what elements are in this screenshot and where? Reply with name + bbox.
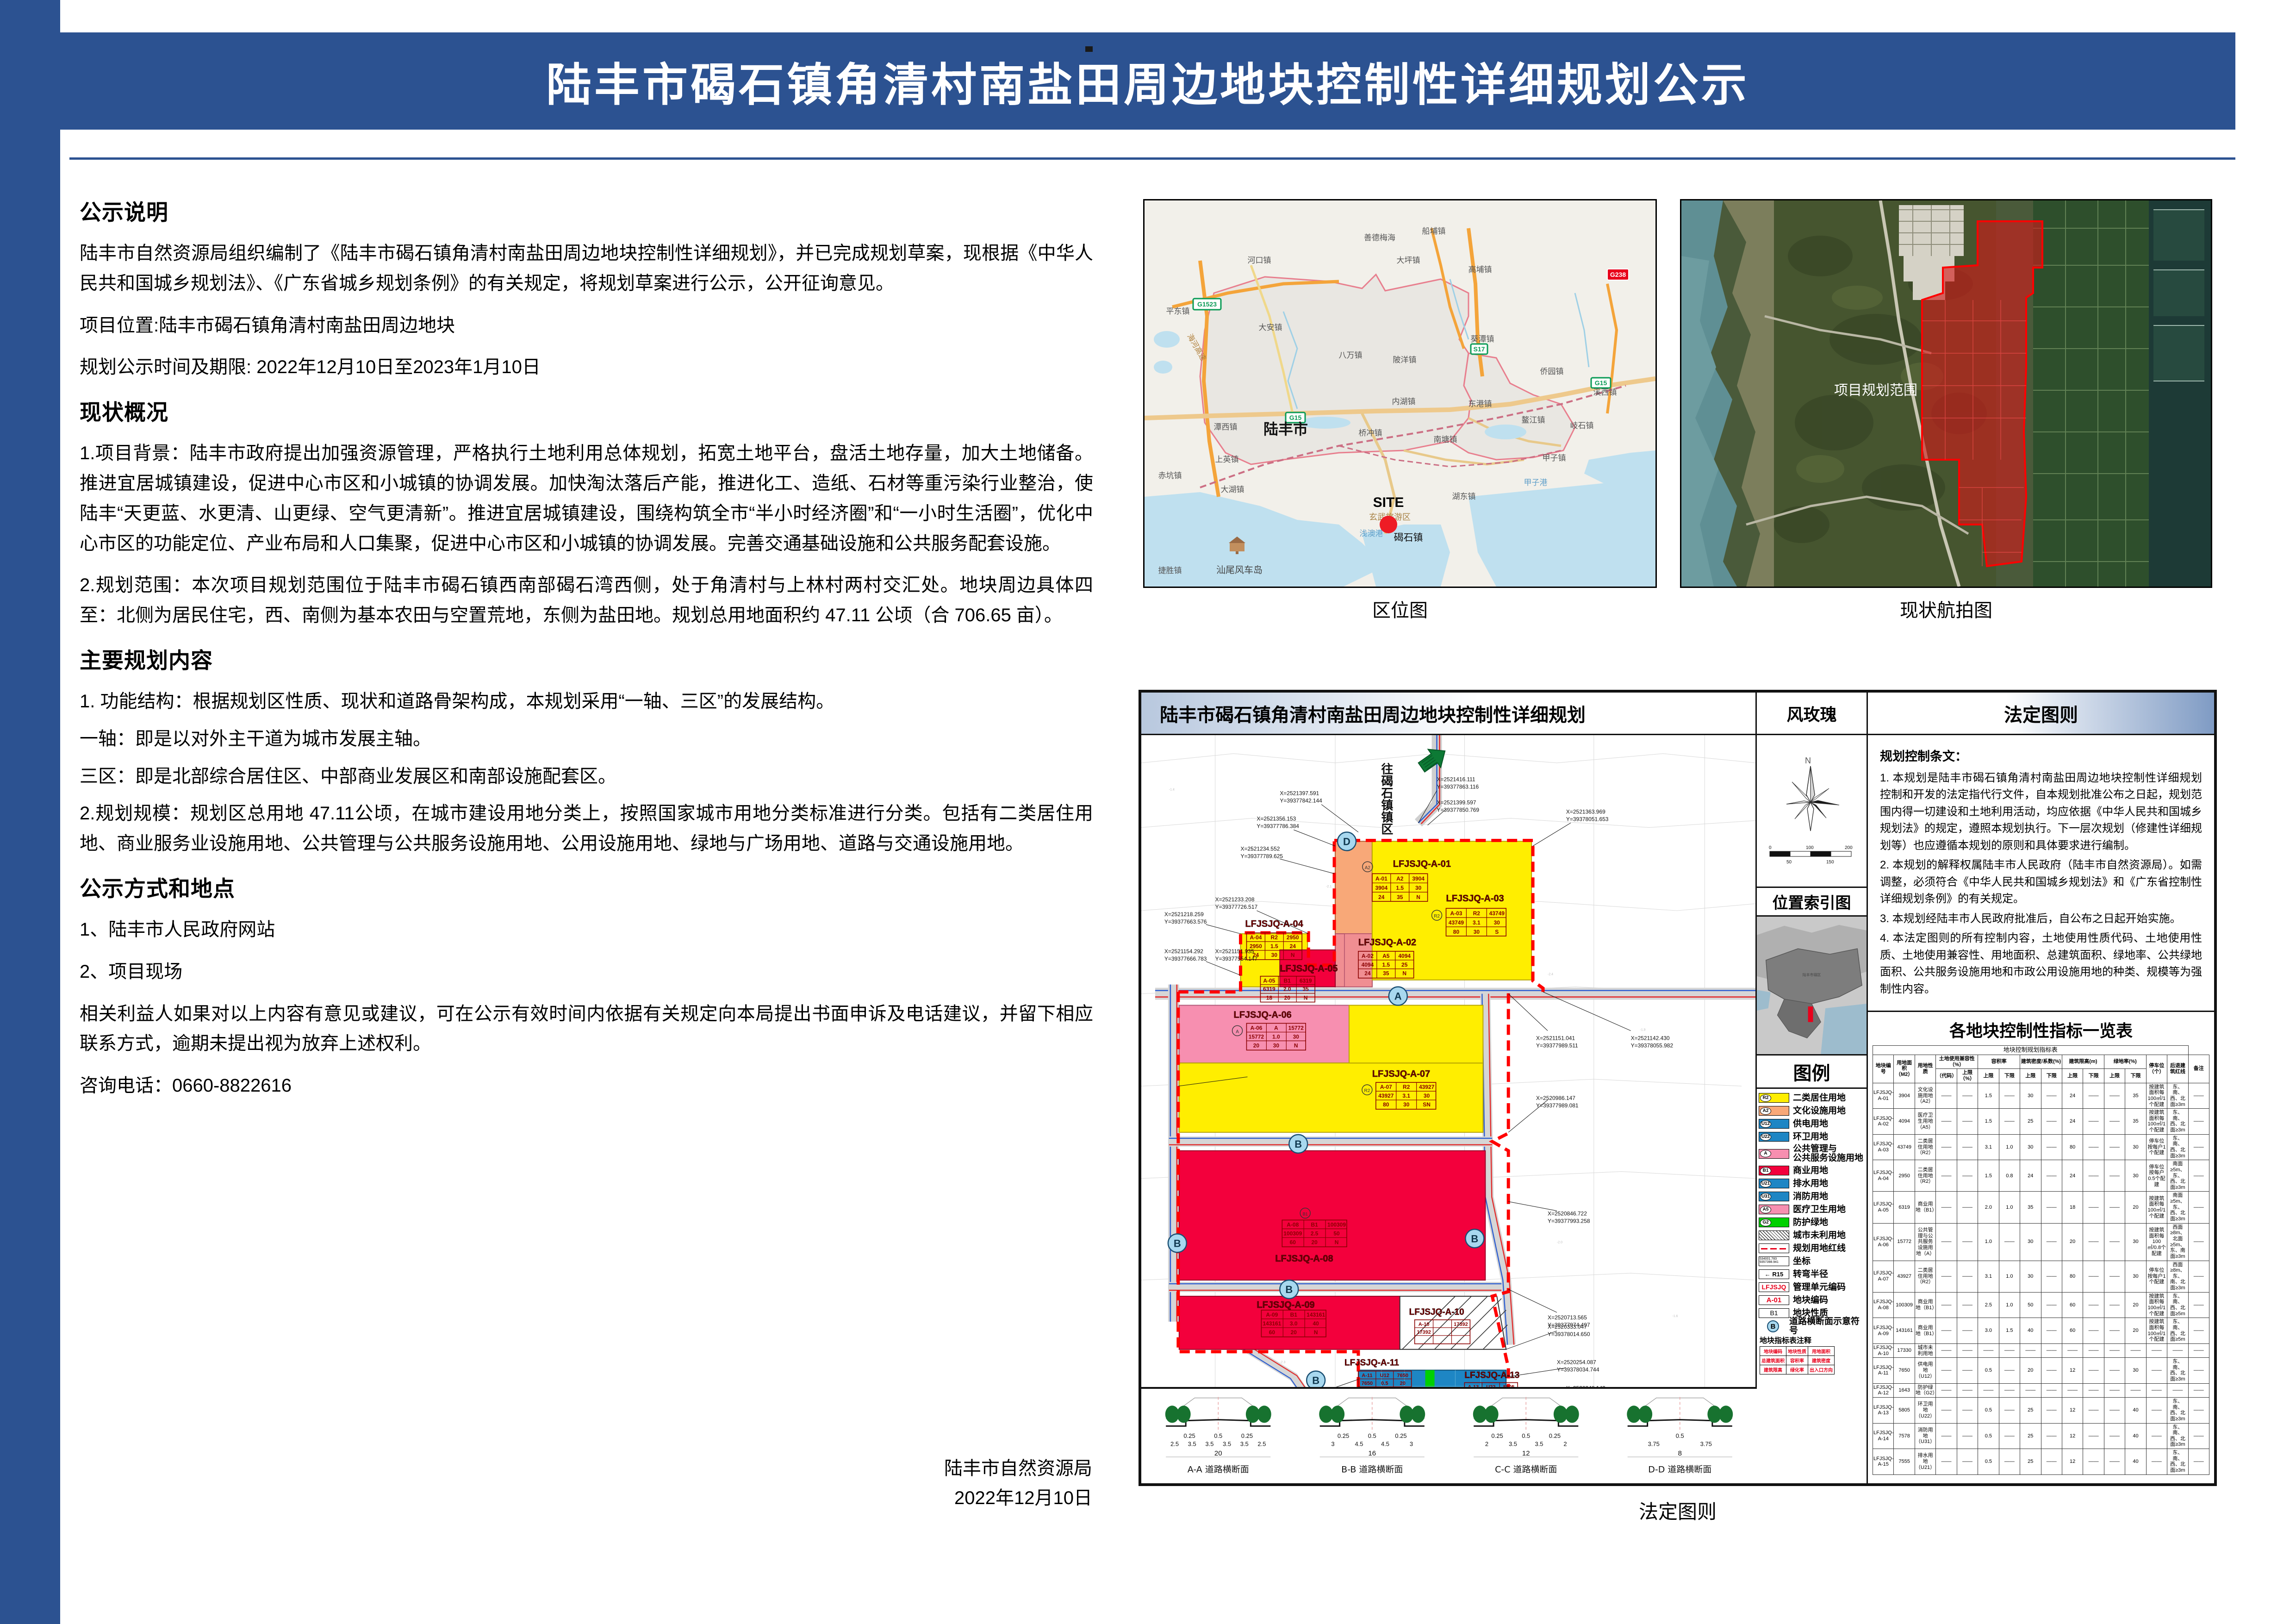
- svg-text:20: 20: [1214, 1450, 1222, 1457]
- svg-text:Y=39378055.982: Y=39378055.982: [1631, 1042, 1674, 1049]
- legend-label-u22: 环卫用地: [1793, 1132, 1828, 1142]
- paragraph-function-structure: 1. 功能结构：根据规划区性质、现状和道路骨架构成，本规划采用“一轴、三区”的发…: [80, 687, 1093, 717]
- svg-text:3.5: 3.5: [1223, 1441, 1231, 1448]
- cell-g_l: 30: [2125, 1223, 2146, 1261]
- svg-text:LFJSJQ-A-05: LFJSJQ-A-05: [1280, 964, 1338, 974]
- svg-text:R2: R2: [1473, 910, 1481, 917]
- cell-den_l: ——: [2041, 1449, 2062, 1475]
- cell-den_u: 30: [2020, 1134, 2041, 1160]
- cell-h_l: ——: [2083, 1160, 2104, 1192]
- cell-h_u: 60: [2062, 1318, 2083, 1344]
- svg-text:20: 20: [1253, 1042, 1260, 1049]
- cell-setback: 西面≥8m、北面≥5m、东、南面≥3m: [2167, 1223, 2188, 1261]
- cell-remark: ——: [2188, 1134, 2209, 1160]
- svg-text:碣石镇: 碣石镇: [1394, 532, 1423, 543]
- cell-park: ——: [2146, 1397, 2167, 1423]
- svg-text:N: N: [1402, 970, 1406, 977]
- svg-text:X=2520986.147: X=2520986.147: [1536, 1095, 1575, 1101]
- cell-den_l: ——: [2041, 1223, 2062, 1261]
- cell-g_u: ——: [2104, 1423, 2125, 1449]
- legend-item-u22: U22 环卫用地: [1759, 1131, 1865, 1143]
- svg-text:Y=39377989.081: Y=39377989.081: [1536, 1102, 1579, 1109]
- svg-text:捷胜镇: 捷胜镇: [1158, 566, 1182, 575]
- legend-swatch-plot-use: B1: [1759, 1308, 1789, 1318]
- cell-setback: 东、南、西、北面≥3m: [2167, 1134, 2188, 1160]
- signature-block: 陆丰市自然资源局 2022年12月10日: [694, 1454, 1092, 1513]
- road-section: 0.250.50.252.53.53.53.53.52.520A-A 道路横断面: [1165, 1397, 1271, 1475]
- cell-g_u: ——: [2104, 1160, 2125, 1192]
- svg-text:G1523: G1523: [1197, 300, 1217, 308]
- cell-den_u: 40: [2020, 1318, 2041, 1344]
- svg-text:X=2521397.591: X=2521397.591: [1280, 790, 1319, 797]
- svg-text:4094: 4094: [1398, 953, 1411, 959]
- cell-cc: ——: [1936, 1423, 1957, 1449]
- provision-1: 1. 本规划是陆丰市碣石镇角清村南盐田周边地块控制性详细规划控制和开发的法定指代…: [1880, 770, 2202, 854]
- svg-text:150: 150: [1826, 860, 1834, 865]
- notice-text-column: 公示说明 陆丰市自然资源局组织编制了《陆丰市碣石镇角清村南盐田周边地块控制性详细…: [80, 194, 1093, 1113]
- index-map-title: 位置索引图: [1757, 888, 1867, 917]
- provision-4: 4. 本法定图则的所有控制内容，土地使用性质代码、土地使用性质、土地使用兼容性、…: [1880, 930, 2202, 998]
- cell-setback: ——: [2167, 1343, 2188, 1357]
- cell-use: 二类居住用地（R2）: [1915, 1134, 1935, 1160]
- cell-cc: ——: [1936, 1397, 1957, 1423]
- svg-text:SITE: SITE: [1373, 495, 1404, 510]
- cell-g_l: 30: [2125, 1261, 2146, 1292]
- table-row: LFJSJQ-A-024094医疗卫生用地（A5）————1.5——25——24…: [1873, 1109, 2209, 1135]
- legend-label-b1: 商业用地: [1793, 1166, 1828, 1175]
- legend-label-unit-code: 管理单元编码: [1793, 1283, 1846, 1292]
- legend-item-g2: G2 防护绿地: [1759, 1216, 1865, 1229]
- svg-text:G15: G15: [1595, 379, 1607, 387]
- provisions-title: 规划控制条文：: [1880, 746, 2202, 764]
- cell-den_l: ——: [2041, 1343, 2062, 1357]
- th-far: 容积率: [1978, 1055, 2020, 1069]
- svg-text:桥冲镇: 桥冲镇: [1359, 429, 1382, 438]
- cell-use: 医疗卫生用地（A5）: [1915, 1109, 1935, 1135]
- legend-swatch-u12: U12: [1759, 1119, 1789, 1129]
- cell-park: ——: [2146, 1358, 2167, 1384]
- svg-text:陂洋镇: 陂洋镇: [1393, 356, 1417, 365]
- svg-text:陆丰市辖区: 陆丰市辖区: [1803, 973, 1821, 977]
- svg-text:X=2521151.041: X=2521151.041: [1536, 1035, 1575, 1041]
- tree-icon: [1331, 1405, 1344, 1423]
- cell-cm: ——: [1957, 1223, 1978, 1261]
- svg-text:A: A: [1236, 1029, 1239, 1034]
- legend-item-u21: U21 排水用地: [1759, 1177, 1865, 1190]
- scale-bar: 0 100 200 50 150: [1768, 844, 1856, 870]
- cell-g_l: 30: [2125, 1160, 2146, 1192]
- svg-text:Y=39378014.650: Y=39378014.650: [1548, 1331, 1590, 1337]
- svg-text:24: 24: [1378, 894, 1385, 900]
- cell-setback: ——: [2167, 1383, 2188, 1397]
- svg-text:内湖镇: 内湖镇: [1392, 397, 1416, 406]
- cell-h_l: ——: [2083, 1223, 2104, 1261]
- table-row: LFJSJQ-A-0343749二类居住用地（R2）————3.11.030——…: [1873, 1134, 2209, 1160]
- th-setback: 后退建筑红线: [2167, 1055, 2188, 1083]
- svg-text:7650: 7650: [1362, 1381, 1373, 1387]
- paragraph-description: 陆丰市自然资源局组织编制了《陆丰市碣石镇角清村南盐田周边地块控制性详细规划》，并…: [80, 238, 1093, 299]
- cell-den_l: ——: [2041, 1192, 2062, 1223]
- cell-far_u: 1.5: [1978, 1083, 1999, 1109]
- cell-area: 43927: [1894, 1261, 1915, 1292]
- cell-far_u: 1.0: [1978, 1223, 1999, 1261]
- poster-page: 陆丰市碣石镇角清村南盐田周边地块控制性详细规划公示 公示说明 陆丰市自然资源局组…: [0, 0, 2296, 1624]
- svg-text:A-04: A-04: [1250, 934, 1262, 941]
- cell-h_l: ——: [2083, 1261, 2104, 1292]
- svg-text:X=2520254.087: X=2520254.087: [1557, 1359, 1596, 1366]
- note-cell-area: 用地面积: [1808, 1347, 1835, 1356]
- th-compat-code: （代码）: [1936, 1069, 1957, 1083]
- svg-text:X=2521416.111: X=2521416.111: [1437, 776, 1475, 783]
- cell-den_l: ——: [2041, 1134, 2062, 1160]
- svg-text:30: 30: [1415, 885, 1422, 891]
- cell-g_l: 30: [2125, 1134, 2146, 1160]
- svg-text:Y=39377554.147: Y=39377554.147: [1215, 956, 1258, 962]
- svg-text:汕尾风车岛: 汕尾风车岛: [1216, 564, 1263, 575]
- heading-notice-method: 公示方式和地点: [80, 871, 1093, 903]
- svg-text:鳌江镇: 鳌江镇: [1522, 416, 1545, 425]
- svg-text:20: 20: [1291, 1329, 1297, 1336]
- cell-far_l: 1.0: [1999, 1261, 2020, 1292]
- cell-g_l: ——: [2125, 1343, 2146, 1357]
- legend-item-redline: 规划用地红线: [1759, 1242, 1865, 1255]
- svg-text:2: 2: [1485, 1441, 1488, 1448]
- svg-text:X=2520333.047: X=2520333.047: [1548, 1324, 1587, 1330]
- svg-text:3.75: 3.75: [1700, 1441, 1712, 1448]
- method-item-website: 1、陆丰市人民政府网站: [80, 915, 1093, 945]
- cell-remark: ——: [2188, 1358, 2209, 1384]
- table-row: LFJSJQ-A-157555排水用地（U21）————0.5——25——12—…: [1873, 1449, 2209, 1475]
- cell-setback: 东、南、西、北面≥3m: [2167, 1083, 2188, 1109]
- cell-no: LFJSJQ-A-03: [1873, 1134, 1894, 1160]
- svg-text:河口镇: 河口镇: [1248, 256, 1271, 265]
- svg-text:200: 200: [1845, 845, 1853, 850]
- cell-no: LFJSJQ-A-05: [1873, 1192, 1894, 1223]
- legend-swatch-unit-code: LFJSJQ: [1759, 1282, 1789, 1292]
- cell-no: LFJSJQ-A-06: [1873, 1223, 1894, 1261]
- cell-far_l: ——: [1999, 1397, 2020, 1423]
- legend-note-title: 地块指标表注释: [1760, 1334, 1865, 1345]
- svg-text:大安镇: 大安镇: [1259, 323, 1282, 332]
- svg-text:N: N: [1314, 1329, 1318, 1336]
- svg-text:2.0: 2.0: [1283, 986, 1291, 993]
- cell-use: 环卫用地（U22）: [1915, 1397, 1935, 1423]
- svg-text:LFJSJQ-A-06: LFJSJQ-A-06: [1234, 1010, 1292, 1020]
- legal-plan-sheet: 陆丰市碣石镇角清村南盐田周边地块控制性详细规划 风玫瑰 法定图则: [1139, 690, 2217, 1486]
- svg-text:0.25: 0.25: [1549, 1432, 1561, 1439]
- cell-remark: ——: [2188, 1109, 2209, 1135]
- cell-use: 消防用地（U31）: [1915, 1423, 1935, 1449]
- legend-item-section-mark: B 道路横断面示意符号: [1759, 1320, 1865, 1332]
- cell-no: LFJSJQ-A-14: [1873, 1423, 1894, 1449]
- cell-area: 15772: [1894, 1223, 1915, 1261]
- svg-text:N: N: [1416, 894, 1420, 900]
- svg-text:R2: R2: [1271, 934, 1278, 941]
- cell-setback: 东、南、西、北面≥5m: [2167, 1318, 2188, 1344]
- title-banner: 陆丰市碣石镇角清村南盐田周边地块控制性详细规划公示: [60, 32, 2235, 130]
- svg-text:80: 80: [1453, 929, 1460, 935]
- cell-far_u: 0.5: [1978, 1423, 1999, 1449]
- svg-text:N: N: [1294, 1042, 1298, 1049]
- cell-use: 供电用地（U12）: [1915, 1358, 1935, 1384]
- svg-text:50: 50: [1333, 1230, 1340, 1237]
- cell-park: 停车位按每户1个配建: [2146, 1261, 2167, 1292]
- cell-area: 3904: [1894, 1083, 1915, 1109]
- legend-label-unused: 城市未利用地: [1793, 1231, 1846, 1240]
- th-g-lower: 下限: [2125, 1069, 2146, 1083]
- sheet-middle-column: N: [1757, 735, 1868, 1483]
- table-row: LFJSJQ-A-056319商业用地（B1）————2.01.035——18—…: [1873, 1192, 2209, 1223]
- table-row: LFJSJQ-A-0615772公共管理与公共服务设施用地（A）————1.0—…: [1873, 1223, 2209, 1261]
- cell-far_l: ——: [1999, 1109, 2020, 1135]
- th-far-lower: 下限: [1999, 1069, 2020, 1083]
- sheet-title: 陆丰市碣石镇角清村南盐田周边地块控制性详细规划: [1141, 693, 1757, 735]
- cell-g_u: ——: [2104, 1261, 2125, 1292]
- cell-cm: ——: [1957, 1423, 1978, 1449]
- svg-text:X=2521154.292: X=2521154.292: [1164, 948, 1203, 955]
- svg-text:30: 30: [1494, 919, 1500, 926]
- svg-text:Y=39377863.116: Y=39377863.116: [1437, 784, 1479, 790]
- legal-plan-title: 法定图则: [1868, 693, 2214, 735]
- cell-h_l: ——: [2083, 1397, 2104, 1423]
- cell-far_u: ——: [1978, 1343, 1999, 1357]
- svg-text:Y=39377989.511: Y=39377989.511: [1536, 1042, 1578, 1049]
- svg-text:0.25: 0.25: [1183, 1432, 1195, 1439]
- legend-swatch-b1: B1: [1759, 1166, 1789, 1175]
- cell-den_u: 25: [2020, 1397, 2041, 1423]
- cell-use: 排水用地（U21）: [1915, 1449, 1935, 1475]
- cell-den_u: 24: [2020, 1160, 2041, 1192]
- cell-den_u: 30: [2020, 1083, 2041, 1109]
- cell-park: ——: [2146, 1343, 2167, 1357]
- svg-text:LFJSJQ-A-09: LFJSJQ-A-09: [1257, 1300, 1314, 1310]
- cell-cc: ——: [1936, 1160, 1957, 1192]
- svg-text:B1: B1: [1311, 1221, 1318, 1228]
- index-table-caption: 地块控制规划指标表: [1873, 1046, 2189, 1055]
- cell-h_u: 12: [2062, 1397, 2083, 1423]
- th-den-upper: 上限: [2020, 1069, 2041, 1083]
- th-h-lower: 下限: [2083, 1069, 2104, 1083]
- paragraph-notice-period: 规划公示时间及期限: 2022年12月10日至2023年1月10日: [80, 352, 1093, 382]
- cell-h_u: ——: [2062, 1343, 2083, 1357]
- cell-area: 7578: [1894, 1423, 1915, 1449]
- cell-cc: ——: [1936, 1223, 1957, 1261]
- svg-text:0: 0: [1769, 845, 1772, 850]
- cell-no: LFJSJQ-A-08: [1873, 1292, 1894, 1318]
- legend-label-a5: 医疗卫生用地: [1793, 1205, 1846, 1214]
- cell-g_u: ——: [2104, 1397, 2125, 1423]
- north-label: N: [1805, 756, 1811, 765]
- cell-area: 7555: [1894, 1449, 1915, 1475]
- legend-label-plot-code: 地块编码: [1793, 1296, 1828, 1305]
- cell-setback: 西面≥8m、东、南、北面≥3m: [2167, 1261, 2188, 1292]
- cell-den_l: ——: [2041, 1261, 2062, 1292]
- legend-swatch-r2: R2: [1759, 1093, 1789, 1103]
- cell-g_u: ——: [2104, 1449, 2125, 1475]
- legend-label-u12: 供电用地: [1793, 1119, 1828, 1129]
- paragraph-feedback: 相关利益人如果对以上内容有意见或建议，可在公示有效时间内依据有关规定向本局提出书…: [80, 999, 1093, 1059]
- svg-text:潭西镇: 潭西镇: [1214, 423, 1238, 432]
- cell-den_u: 30: [2020, 1223, 2041, 1261]
- cell-setback: 南面≥5m、东、西、北面≥3m: [2167, 1160, 2188, 1192]
- svg-text:2: 2: [1563, 1441, 1567, 1448]
- cell-den_l: ——: [2041, 1292, 2062, 1318]
- cell-cm: ——: [1957, 1449, 1978, 1475]
- svg-text:大坪镇: 大坪镇: [1397, 256, 1420, 265]
- svg-text:100: 100: [1806, 845, 1814, 850]
- svg-text:X=2521233.208: X=2521233.208: [1215, 896, 1255, 903]
- aerial-photo-caption: 现状航拍图: [1680, 595, 2212, 622]
- cell-h_u: 24: [2062, 1083, 2083, 1109]
- cell-far_u: 2.5: [1978, 1292, 1999, 1318]
- svg-text:30: 30: [1273, 1042, 1280, 1049]
- cell-remark: ——: [2188, 1449, 2209, 1475]
- svg-text:溪西镇: 溪西镇: [1593, 388, 1617, 397]
- legend-label-a: 公共管理与公共服务设施用地: [1793, 1144, 1863, 1163]
- cell-use: 防护绿地（G2）: [1915, 1383, 1935, 1397]
- table-row: LFJSJQ-A-09143161商业用地（B1）————3.01.540——6…: [1873, 1318, 2209, 1344]
- cell-far_u: 0.5: [1978, 1397, 1999, 1423]
- cell-far_l: 1.0: [1999, 1134, 2020, 1160]
- svg-text:X=2521356.153: X=2521356.153: [1257, 816, 1296, 822]
- svg-text:0.5: 0.5: [1214, 1432, 1222, 1439]
- svg-text:60: 60: [1269, 1329, 1276, 1336]
- cell-den_l: ——: [2041, 1358, 2062, 1384]
- svg-text:1.5: 1.5: [1396, 885, 1404, 891]
- svg-text:A2: A2: [1365, 865, 1371, 870]
- svg-text:A-11: A-11: [1362, 1373, 1372, 1379]
- cell-cc: ——: [1936, 1318, 1957, 1344]
- svg-text:3.5: 3.5: [1509, 1441, 1517, 1448]
- svg-text:Y=39377663.576: Y=39377663.576: [1164, 918, 1207, 925]
- signature-organization: 陆丰市自然资源局: [694, 1454, 1092, 1483]
- method-item-onsite: 2、项目现场: [80, 957, 1093, 987]
- svg-text:LFJSJQ-A-11: LFJSJQ-A-11: [1344, 1358, 1399, 1368]
- cell-use: 城市未利用地: [1915, 1343, 1935, 1357]
- cell-park: ——: [2146, 1423, 2167, 1449]
- svg-text:100309: 100309: [1283, 1230, 1302, 1237]
- cell-far_u: 0.5: [1978, 1449, 1999, 1475]
- cell-g_l: 40: [2125, 1397, 2146, 1423]
- cell-den_u: 50: [2020, 1292, 2041, 1318]
- svg-text:2.5: 2.5: [1311, 1230, 1319, 1237]
- svg-text:甲子镇: 甲子镇: [1543, 454, 1566, 463]
- legend-item-turn-radius: ← R15 转弯半径: [1759, 1268, 1865, 1280]
- svg-text:湖东镇: 湖东镇: [1452, 492, 1476, 501]
- road-section-label: B-B 道路横断面: [1341, 1465, 1403, 1475]
- paragraph-project-location: 项目位置:陆丰市碣石镇角清村南盐田周边地块: [80, 311, 1093, 341]
- cell-g_u: ——: [2104, 1343, 2125, 1357]
- tree-icon: [1411, 1405, 1425, 1423]
- svg-text:3.5: 3.5: [1205, 1441, 1213, 1448]
- legend-label-a2: 文化设施用地: [1793, 1106, 1846, 1116]
- svg-text:D: D: [1343, 836, 1350, 847]
- cell-remark: ——: [2188, 1261, 2209, 1292]
- svg-text:2.5: 2.5: [1170, 1441, 1179, 1448]
- svg-text:0.25: 0.25: [1491, 1432, 1503, 1439]
- cell-h_u: 80: [2062, 1134, 2083, 1160]
- svg-text:35: 35: [1383, 970, 1389, 977]
- sheet-body: -1.4-1.6-2.1 -1.8-2.4-1.9 -1.5-2.2-1.7 -…: [1141, 735, 2214, 1483]
- svg-text:B: B: [1285, 1284, 1293, 1295]
- index-table-title: 各地块控制性指标一览表: [1868, 1011, 2214, 1042]
- road-section: 0.53.753.758D-D 道路横断面: [1627, 1397, 1733, 1475]
- svg-text:30: 30: [1271, 952, 1278, 958]
- cell-g_l: 40: [2125, 1449, 2146, 1475]
- cell-area: 17330: [1894, 1343, 1915, 1357]
- svg-text:善德梅海: 善德梅海: [1364, 233, 1395, 243]
- provisions-block: 规划控制条文： 1. 本规划是陆丰市碣石镇角清村南盐田周边地块控制性详细规划控制…: [1868, 735, 2214, 1004]
- road-section-label: A-A 道路横断面: [1188, 1465, 1249, 1475]
- svg-text:LFJSJQ-A-10: LFJSJQ-A-10: [1409, 1307, 1464, 1317]
- road-section-label: C-C 道路横断面: [1495, 1465, 1557, 1475]
- cell-h_u: 12: [2062, 1358, 2083, 1384]
- legend-list: R2 二类居住用地 A2 文化设施用地 U12 供电用地 U22 环卫用地: [1757, 1089, 1867, 1483]
- svg-text:A-01: A-01: [1375, 875, 1388, 882]
- note-cell-entrance: 出入口方向: [1808, 1365, 1835, 1374]
- svg-text:R2: R2: [1403, 1084, 1410, 1090]
- cell-cc: ——: [1936, 1134, 1957, 1160]
- legend-swatch-a: A: [1759, 1149, 1789, 1159]
- wind-rose-title: 风玫瑰: [1757, 693, 1868, 735]
- svg-text:岐石镇: 岐石镇: [1570, 421, 1594, 431]
- cell-remark: ——: [2188, 1083, 2209, 1109]
- cell-no: LFJSJQ-A-11: [1873, 1358, 1894, 1384]
- svg-text:3: 3: [1410, 1441, 1413, 1448]
- legend-swatch-redline: [1759, 1243, 1789, 1253]
- cell-g_u: ——: [2104, 1134, 2125, 1160]
- svg-text:A2: A2: [1396, 875, 1404, 882]
- cell-g_l: 20: [2125, 1192, 2146, 1223]
- th-use: 用地性质: [1915, 1055, 1935, 1083]
- th-den-lower: 下限: [2041, 1069, 2062, 1083]
- svg-text:Y=39377850.769: Y=39377850.769: [1437, 807, 1480, 813]
- cell-cm: ——: [1957, 1109, 1978, 1135]
- table-row: LFJSJQ-A-0743927二类居住用地（R2）————3.11.030——…: [1873, 1261, 2209, 1292]
- road-section: 0.250.50.2534.54.5316B-B 道路横断面: [1319, 1397, 1425, 1475]
- th-far-upper: 上限: [1978, 1069, 1999, 1083]
- contact-phone: 咨询电话：0660-8822616: [80, 1071, 1093, 1101]
- cell-h_u: 60: [2062, 1292, 2083, 1318]
- svg-text:20: 20: [1400, 1381, 1406, 1387]
- cell-far_l: ——: [1999, 1343, 2020, 1357]
- cell-far_u: 3.1: [1978, 1134, 1999, 1160]
- page-title: 陆丰市碣石镇角清村南盐田周边地块控制性详细规划公示: [546, 48, 1749, 114]
- svg-text:X=2520846.722: X=2520846.722: [1548, 1210, 1587, 1217]
- svg-text:X=2521363.969: X=2521363.969: [1566, 809, 1605, 815]
- cell-cc: ——: [1936, 1449, 1957, 1475]
- index-map: 陆丰市辖区: [1757, 917, 1867, 1056]
- svg-text:1.0: 1.0: [1272, 1033, 1280, 1040]
- svg-text:6319: 6319: [1300, 978, 1312, 984]
- road-section: 0.250.50.2523.53.5212C-C 道路横断面: [1473, 1397, 1579, 1475]
- svg-text:Y=39378034.744: Y=39378034.744: [1557, 1367, 1599, 1373]
- cell-cc: ——: [1936, 1292, 1957, 1318]
- svg-text:X=2521399.597: X=2521399.597: [1437, 800, 1476, 806]
- svg-text:A-06: A-06: [1250, 1024, 1262, 1031]
- svg-text:A-10: A-10: [1419, 1322, 1430, 1327]
- cell-area: 143161: [1894, 1318, 1915, 1344]
- th-area: 用地面积（M2）: [1894, 1055, 1915, 1083]
- svg-text:葵潭镇: 葵潭镇: [1471, 335, 1494, 344]
- plan-graphic: -1.4-1.6-2.1 -1.8-2.4-1.9 -1.5-2.2-1.7 -…: [1141, 735, 1757, 1483]
- cell-setback: 东、南、西、北面≥3m: [2167, 1423, 2188, 1449]
- legend-swatch-u22: U22: [1759, 1132, 1789, 1142]
- note-cell-total-floor: 总建筑面积: [1760, 1356, 1786, 1365]
- legend-swatch-turn-radius: ← R15: [1759, 1269, 1789, 1279]
- cell-use: 二类居住用地（R2）: [1915, 1261, 1935, 1292]
- svg-text:LFJSJQ-A-13: LFJSJQ-A-13: [1464, 1371, 1519, 1380]
